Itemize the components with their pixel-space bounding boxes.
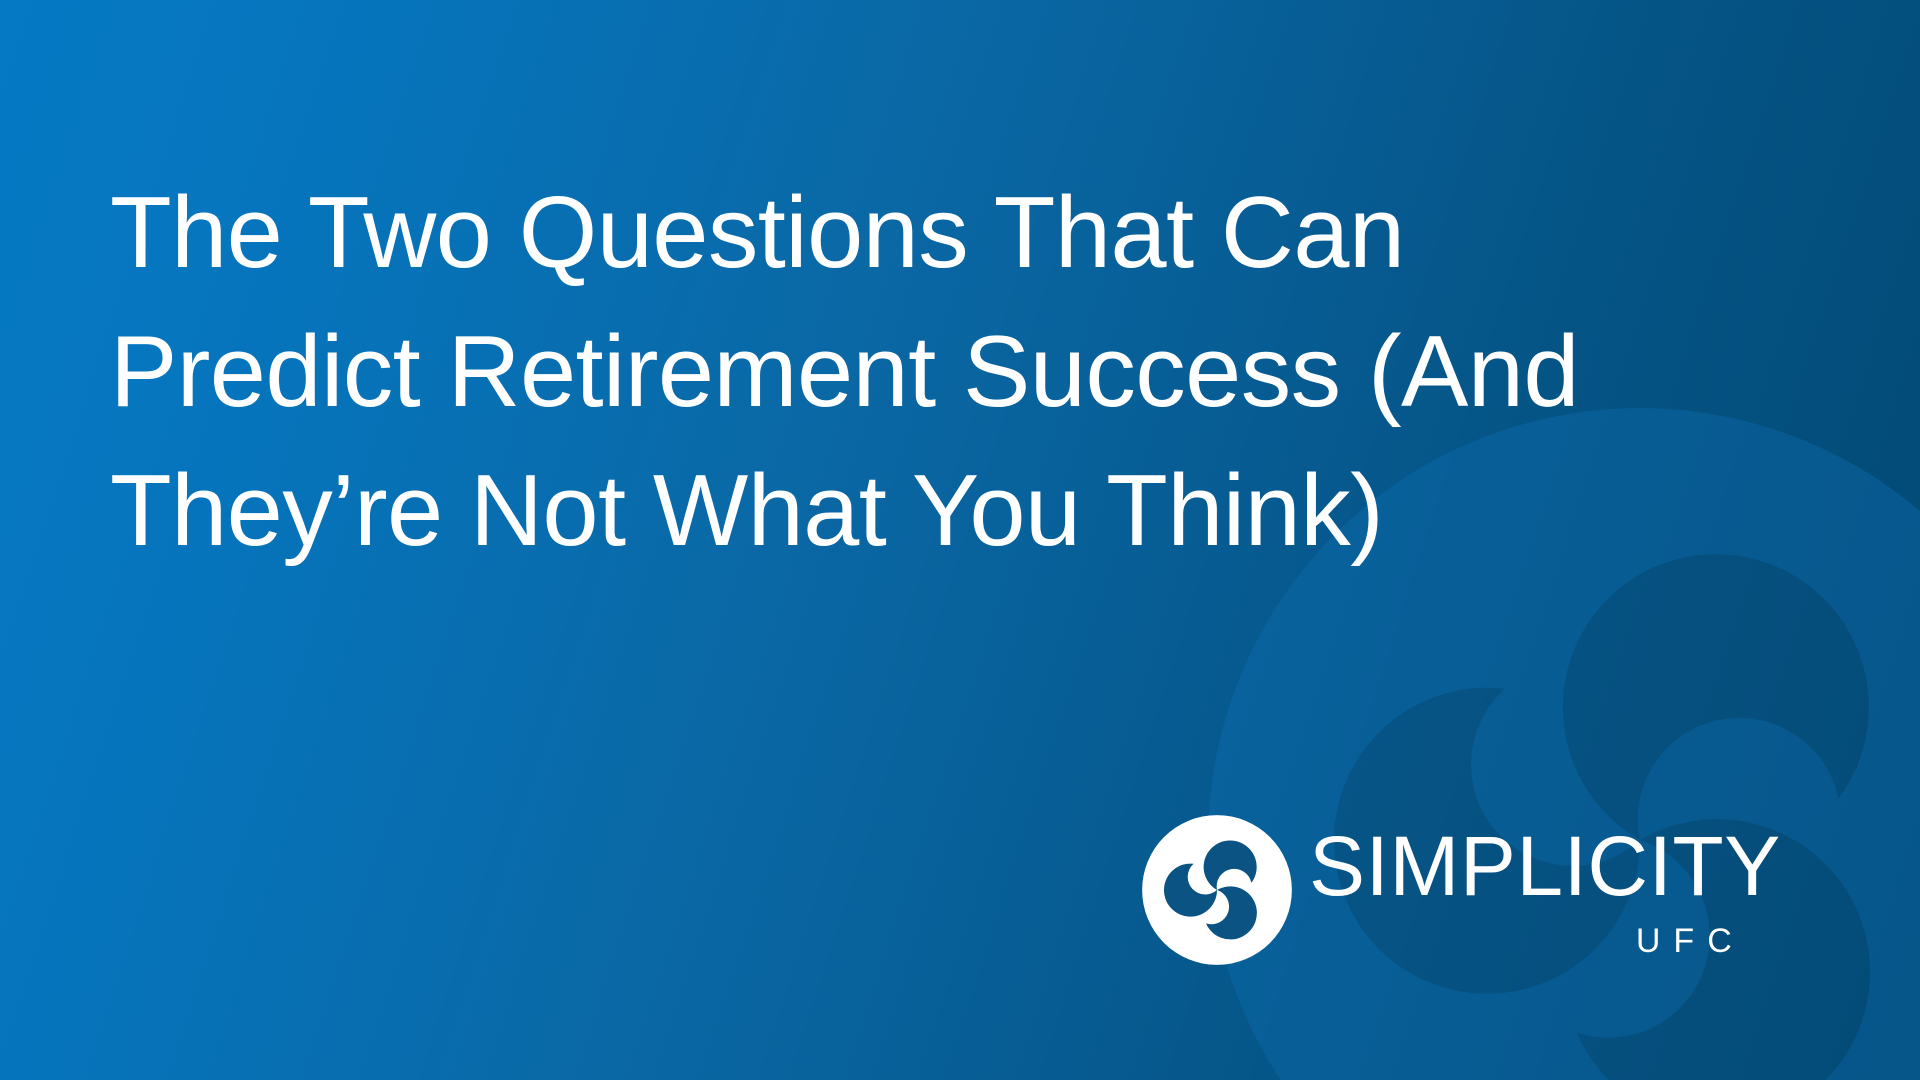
title-slide: The Two Questions That Can Predict Retir… — [0, 0, 1920, 1080]
brand-subtitle: UFC — [1636, 924, 1745, 958]
brand-lockup: SIMPLICITY UFC — [1139, 812, 1781, 968]
brand-name: SIMPLICITY — [1309, 824, 1781, 908]
brand-wordmark: SIMPLICITY UFC — [1309, 812, 1781, 958]
page-title: The Two Questions That Can Predict Retir… — [110, 164, 1670, 581]
triskelion-circle-icon — [1139, 812, 1295, 968]
